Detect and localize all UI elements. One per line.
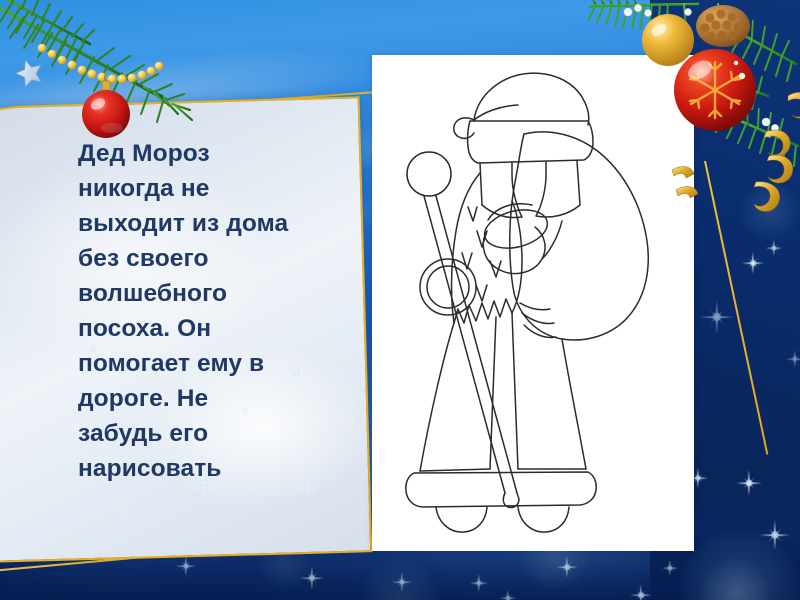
silver-star-icon: [13, 56, 45, 88]
text-line: Дед Мороз: [78, 136, 348, 171]
pinecone-icon: [696, 5, 750, 47]
sparkle-star: [2, 278, 18, 294]
text-line: волшебного: [78, 276, 348, 311]
christmas-decor-cluster: [570, 0, 800, 230]
sparkle-star: [49, 167, 67, 185]
sparkle-star: [47, 437, 68, 458]
text-line: дороге. Не: [78, 381, 348, 416]
text-line: нарисовать: [78, 451, 348, 486]
text-line: посоха. Он: [78, 311, 348, 346]
gold-ribbon-tail: [672, 167, 698, 198]
face-and-mustache: [480, 161, 580, 218]
staff-ring: [420, 259, 476, 315]
instruction-text: Дед Мороз никогда не выходит из дома без…: [78, 136, 348, 486]
gold-ball-ornament: [642, 14, 694, 66]
sparkle-star: [119, 505, 137, 523]
text-line: забудь его: [78, 416, 348, 451]
text-line: без своего: [78, 241, 348, 276]
text-line: помогает ему в: [78, 346, 348, 381]
fir-branch-with-beads: [0, 0, 204, 157]
text-line: выходит из дома: [78, 206, 348, 241]
slide-canvas: Дед Мороз никогда не выходит из дома без…: [0, 0, 800, 600]
sack-fur-strands: [520, 303, 556, 338]
red-ball-with-snowflake: [674, 49, 756, 131]
red-ball-ornament: [82, 74, 130, 138]
text-line: никогда не: [78, 171, 348, 206]
boots: [436, 507, 569, 532]
